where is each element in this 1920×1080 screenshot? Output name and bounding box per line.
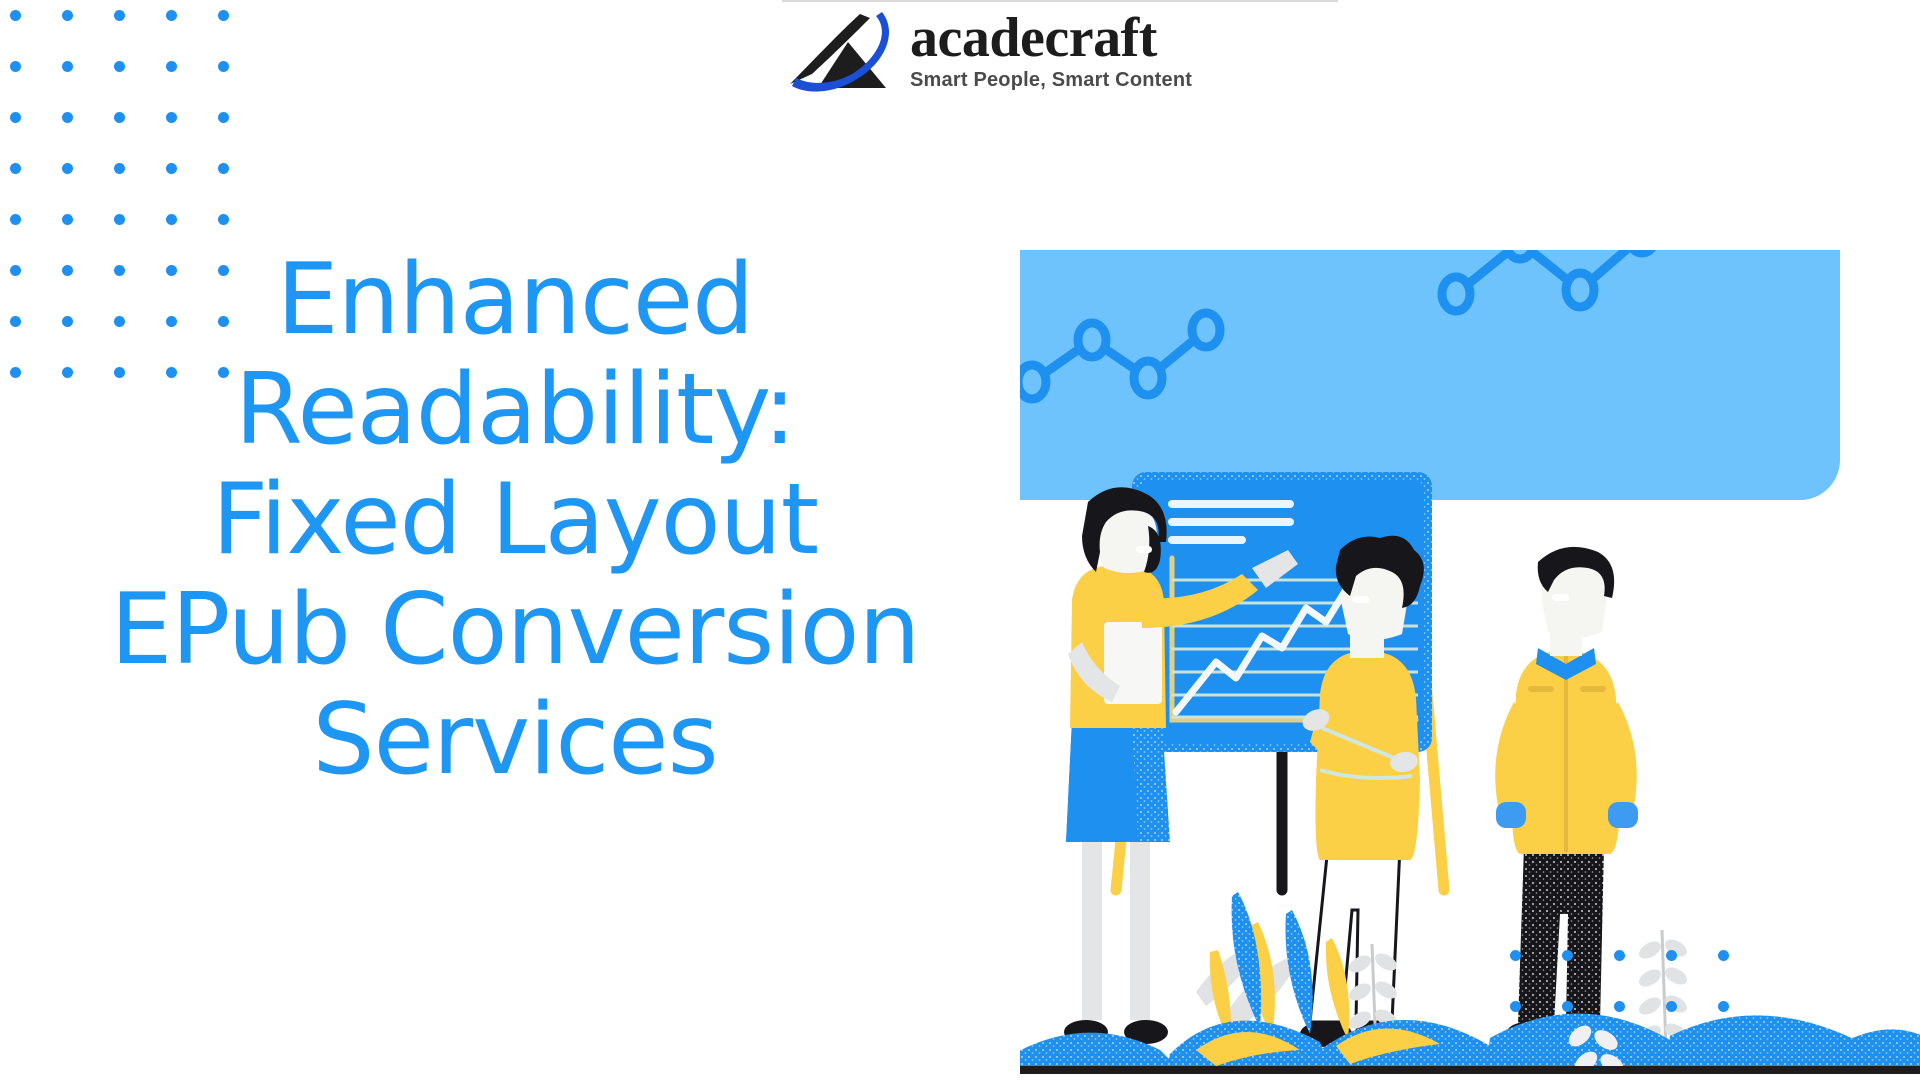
plants-and-bushes xyxy=(1020,892,1920,1078)
decorative-dot xyxy=(166,163,177,174)
decorative-dot xyxy=(166,61,177,72)
ground-line xyxy=(1020,1066,1920,1074)
decorative-dot xyxy=(10,163,21,174)
decorative-dot xyxy=(62,112,73,123)
decorative-dot xyxy=(166,214,177,225)
decorative-dot xyxy=(10,316,21,327)
decorative-dot xyxy=(218,10,229,21)
decorative-dot xyxy=(218,61,229,72)
decorative-dot xyxy=(62,367,73,378)
decorative-dot xyxy=(166,112,177,123)
decorative-dot xyxy=(114,61,125,72)
decorative-dot xyxy=(10,61,21,72)
decorative-dot xyxy=(10,214,21,225)
decorative-dot xyxy=(62,214,73,225)
acadecraft-mountain-swoosh-icon xyxy=(782,8,902,96)
decorative-dot xyxy=(62,61,73,72)
decorative-dot xyxy=(114,10,125,21)
decorative-dot xyxy=(10,265,21,276)
decorative-dot xyxy=(10,112,21,123)
decorative-dot xyxy=(166,10,177,21)
decorative-dot xyxy=(218,112,229,123)
decorative-dot xyxy=(62,163,73,174)
decorative-dot xyxy=(62,316,73,327)
slide-headline: Enhanced Readability: Fixed Layout EPub … xyxy=(100,245,930,795)
decorative-dot xyxy=(62,265,73,276)
logo-wordmark: acadecraft Smart People, Smart Content xyxy=(910,10,1192,92)
business-team-presentation-illustration xyxy=(1020,250,1920,1080)
decorative-dot xyxy=(10,10,21,21)
brand-logo: acadecraft Smart People, Smart Content xyxy=(782,0,1338,100)
man-hands-on-hips xyxy=(1495,547,1638,1047)
decorative-dot xyxy=(10,367,21,378)
decorative-dot xyxy=(218,163,229,174)
decorative-dot xyxy=(114,112,125,123)
logo-tagline: Smart People, Smart Content xyxy=(910,68,1192,92)
decorative-dot xyxy=(114,163,125,174)
decorative-dot xyxy=(218,214,229,225)
decorative-dot xyxy=(62,10,73,21)
decorative-dot xyxy=(114,214,125,225)
slide-canvas: acadecraft Smart People, Smart Content E… xyxy=(0,0,1920,1080)
logo-name: acadecraft xyxy=(910,10,1192,66)
